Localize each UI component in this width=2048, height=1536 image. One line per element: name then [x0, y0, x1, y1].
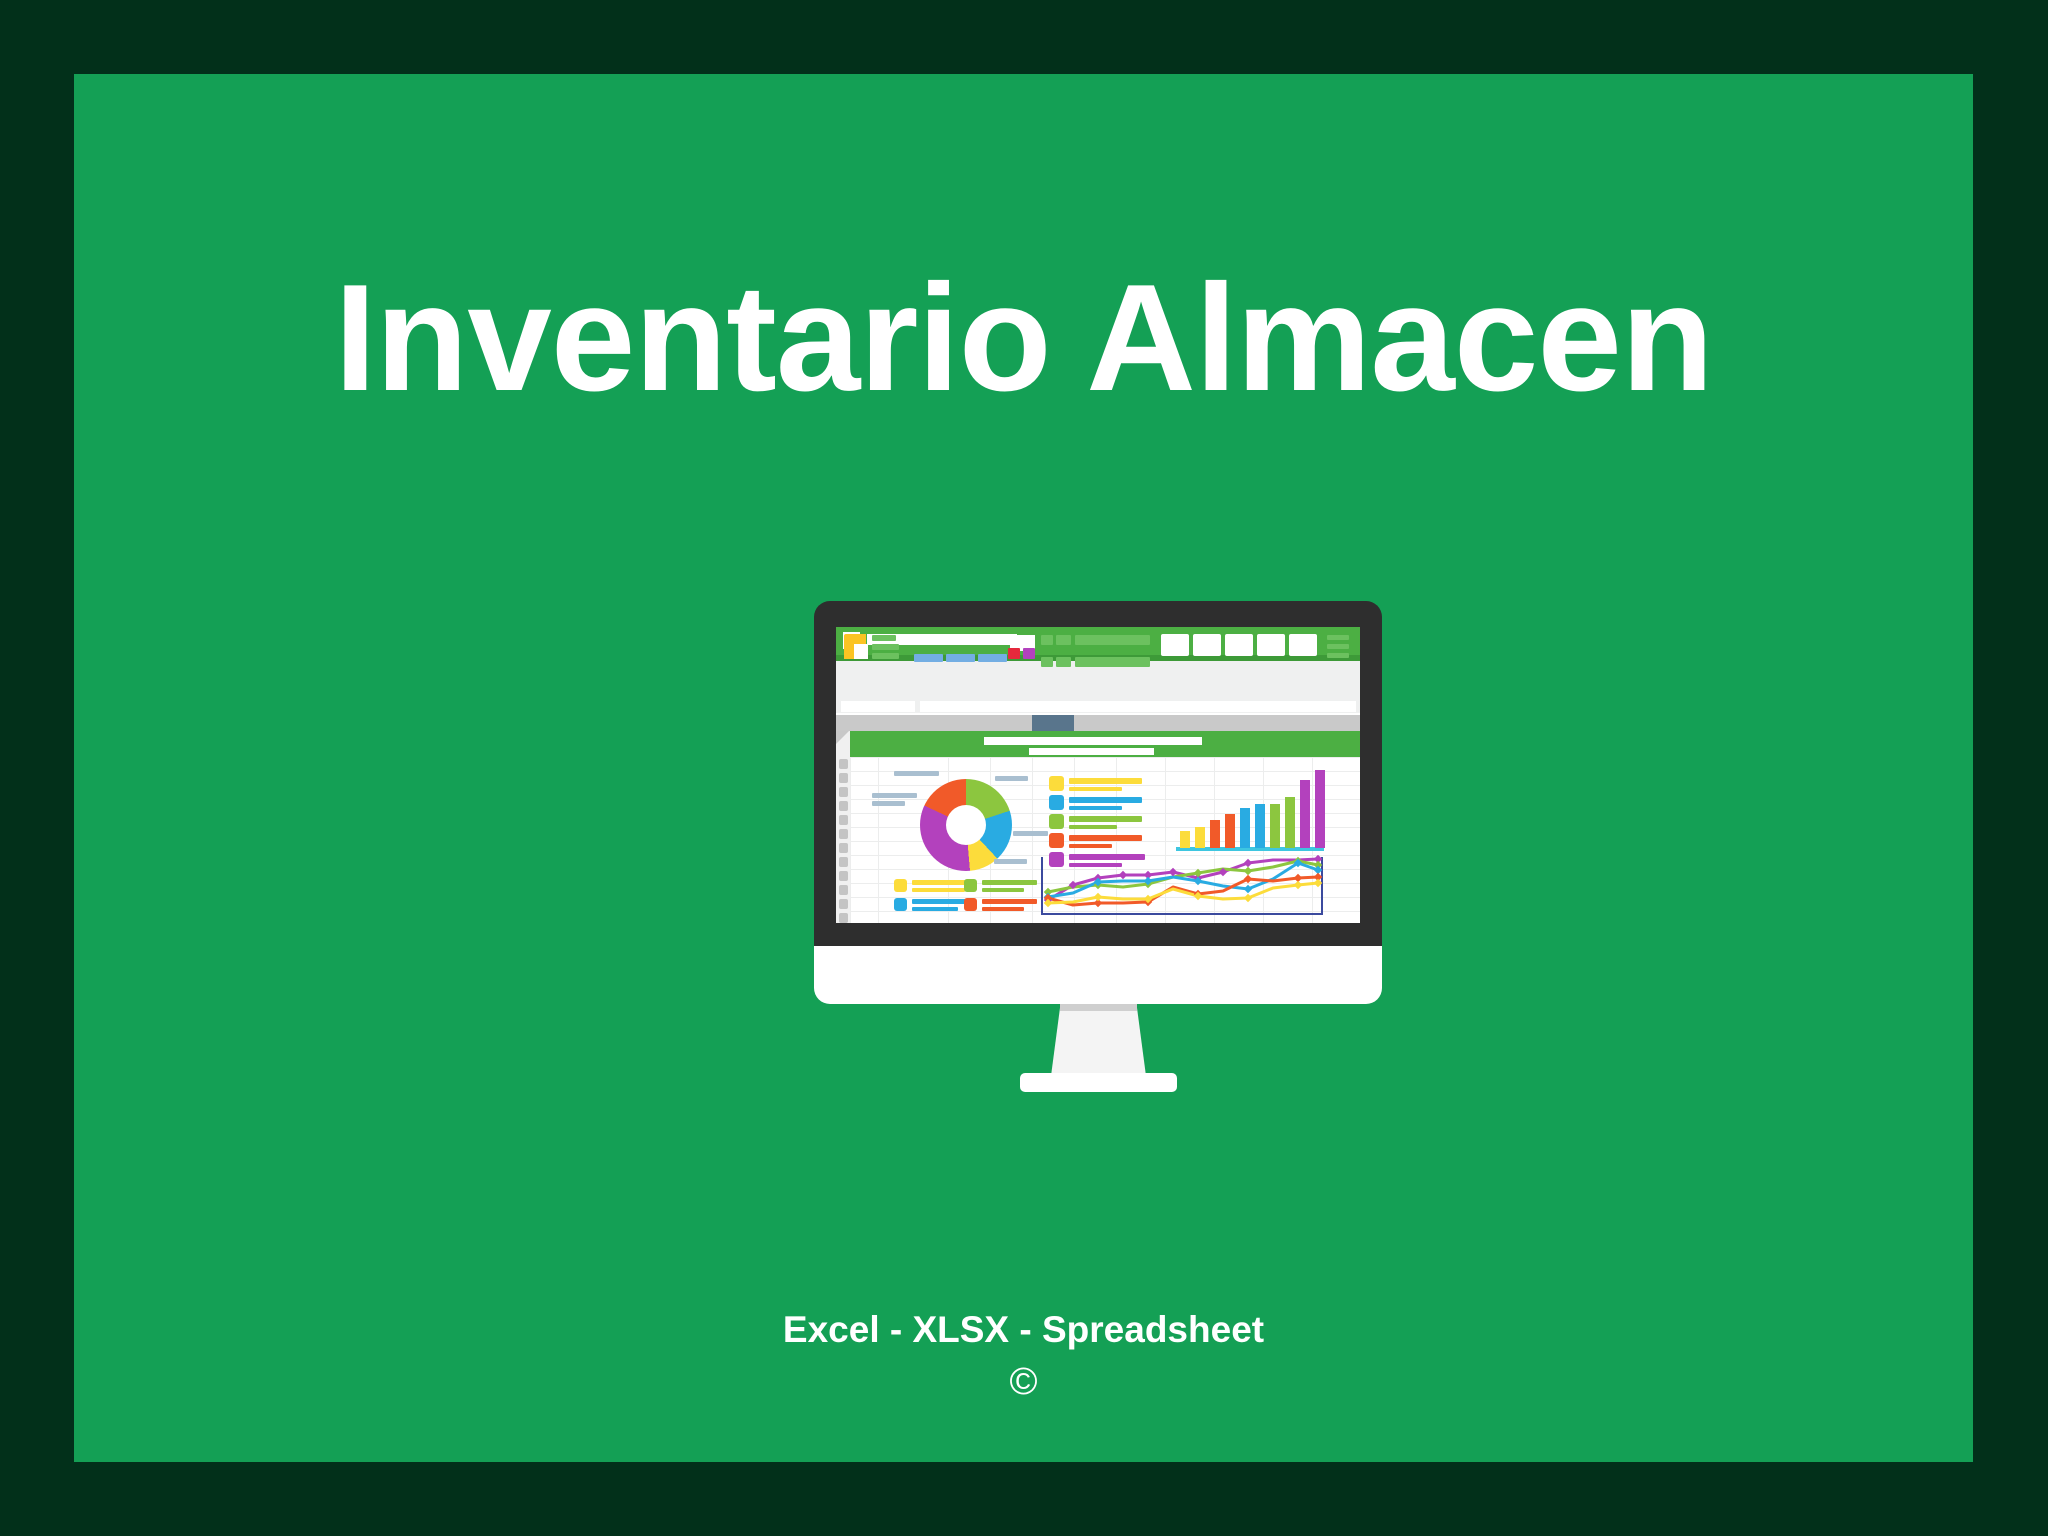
- donut-label: [872, 793, 917, 798]
- row-header: [839, 787, 848, 797]
- legend-swatch-blue: [1049, 795, 1064, 810]
- donut-chart: [920, 779, 1012, 871]
- donut-label: [994, 859, 1027, 864]
- column-header-row: [836, 715, 1360, 731]
- select-all-corner[interactable]: [836, 731, 850, 745]
- donut-label: [1013, 831, 1048, 836]
- row-header: [839, 871, 848, 881]
- monitor-stand-base: [1020, 1073, 1177, 1092]
- row-header: [839, 801, 848, 811]
- ribbon-group-cells[interactable]: [1161, 634, 1321, 661]
- ribbon-file-icon-notch: [854, 644, 868, 659]
- monitor-stand-neck-top: [1060, 1004, 1137, 1011]
- column-bar: [1315, 770, 1325, 848]
- row-header: [839, 857, 848, 867]
- row-header: [839, 843, 848, 853]
- column-bar: [1210, 820, 1220, 848]
- footer-format-label: Excel - XLSX - Spreadsheet: [74, 1307, 1973, 1353]
- row-header: [839, 829, 848, 839]
- row-header: [839, 759, 848, 769]
- monitor-screen: [836, 627, 1360, 923]
- column-bar: [1285, 797, 1295, 848]
- donut-label: [995, 776, 1028, 781]
- monitor-illustration: [814, 601, 1382, 1007]
- sheet-banner-line-1: [984, 737, 1202, 745]
- column-bar: [1225, 814, 1235, 848]
- ribbon-group-alignment[interactable]: [914, 649, 1010, 667]
- trend-chart: [1040, 855, 1324, 917]
- monitor-chin: [814, 946, 1382, 1004]
- footer: Excel - XLSX - Spreadsheet ©: [74, 1307, 1973, 1407]
- sheet-banner-line-2: [1029, 748, 1154, 755]
- copyright-icon: ©: [74, 1359, 1973, 1407]
- row-header: [839, 885, 848, 895]
- row-header: [839, 815, 848, 825]
- column-bar: [1195, 827, 1205, 848]
- ribbon-color-red-icon[interactable]: [1008, 648, 1020, 659]
- row-header: [839, 899, 848, 909]
- monitor-stand-neck: [1051, 1004, 1146, 1076]
- formula-input[interactable]: [920, 701, 1356, 712]
- legend-swatch-orange: [1049, 833, 1064, 848]
- ribbon-group-styles[interactable]: [1041, 635, 1150, 679]
- donut-label: [894, 771, 939, 776]
- column-bar: [1270, 804, 1280, 848]
- column-chart: [1176, 773, 1324, 851]
- page-title: Inventario Almacen: [74, 256, 1973, 420]
- spreadsheet-grid[interactable]: [836, 731, 1360, 923]
- column-bar: [1255, 804, 1265, 848]
- row-header: [839, 913, 848, 923]
- column-bar: [1300, 780, 1310, 848]
- legend-swatch-green: [1049, 814, 1064, 829]
- donut-label: [872, 801, 905, 806]
- row-header: [839, 773, 848, 783]
- column-bar: [1180, 831, 1190, 848]
- selected-column-header[interactable]: [1032, 715, 1074, 731]
- ribbon-font-field[interactable]: [908, 635, 1008, 645]
- legend-swatch-yellow: [1049, 776, 1064, 791]
- ribbon-menu-icon[interactable]: [1327, 635, 1349, 662]
- name-box[interactable]: [841, 701, 915, 712]
- column-bar: [1240, 808, 1250, 848]
- poster-canvas: Inventario Almacen: [0, 0, 2048, 1536]
- ribbon-group-clipboard[interactable]: [872, 635, 899, 662]
- poster-panel: Inventario Almacen: [74, 74, 1973, 1462]
- ribbon-color-purple-icon[interactable]: [1023, 648, 1035, 659]
